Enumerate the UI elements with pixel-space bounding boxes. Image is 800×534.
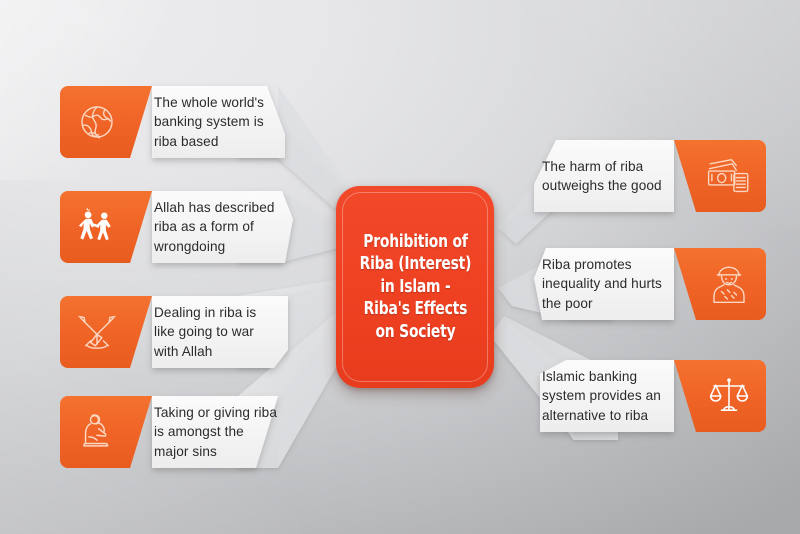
right-row-1[interactable]: The harm of riba outweighs the good — [534, 140, 766, 212]
poor-person-icon — [692, 248, 766, 320]
left-row-4[interactable]: Taking or giving riba is amongst the maj… — [60, 396, 278, 468]
center-node[interactable]: Prohibition of Riba (Interest) in Islam … — [336, 186, 494, 388]
left-row-3[interactable]: Dealing in riba is like going to war wit… — [60, 296, 288, 368]
money-cash-icon — [692, 140, 766, 212]
oppression-icon — [60, 191, 134, 263]
left-label-4: Taking or giving riba is amongst the maj… — [154, 396, 279, 468]
infographic-canvas: The whole world's banking system is riba… — [0, 0, 800, 534]
left-label-2: Allah has described riba as a form of wr… — [154, 191, 279, 263]
globe-icon — [60, 86, 134, 158]
crossed-swords-icon — [60, 296, 134, 368]
right-label-3: Islamic banking system provides an alter… — [542, 360, 672, 432]
left-row-1[interactable]: The whole world's banking system is riba… — [60, 86, 285, 158]
center-title: Prohibition of Riba (Interest) in Islam … — [354, 231, 476, 344]
balance-scales-icon — [692, 360, 766, 432]
praying-person-icon — [60, 396, 134, 468]
left-row-2[interactable]: Allah has described riba as a form of wr… — [60, 191, 293, 263]
right-row-2[interactable]: Riba promotes inequality and hurts the p… — [528, 248, 766, 320]
left-label-3: Dealing in riba is like going to war wit… — [154, 296, 279, 368]
right-label-2: Riba promotes inequality and hurts the p… — [542, 248, 672, 320]
right-label-1: The harm of riba outweighs the good — [542, 140, 672, 212]
right-row-3[interactable]: Islamic banking system provides an alter… — [540, 360, 766, 432]
left-label-1: The whole world's banking system is riba… — [154, 86, 279, 158]
